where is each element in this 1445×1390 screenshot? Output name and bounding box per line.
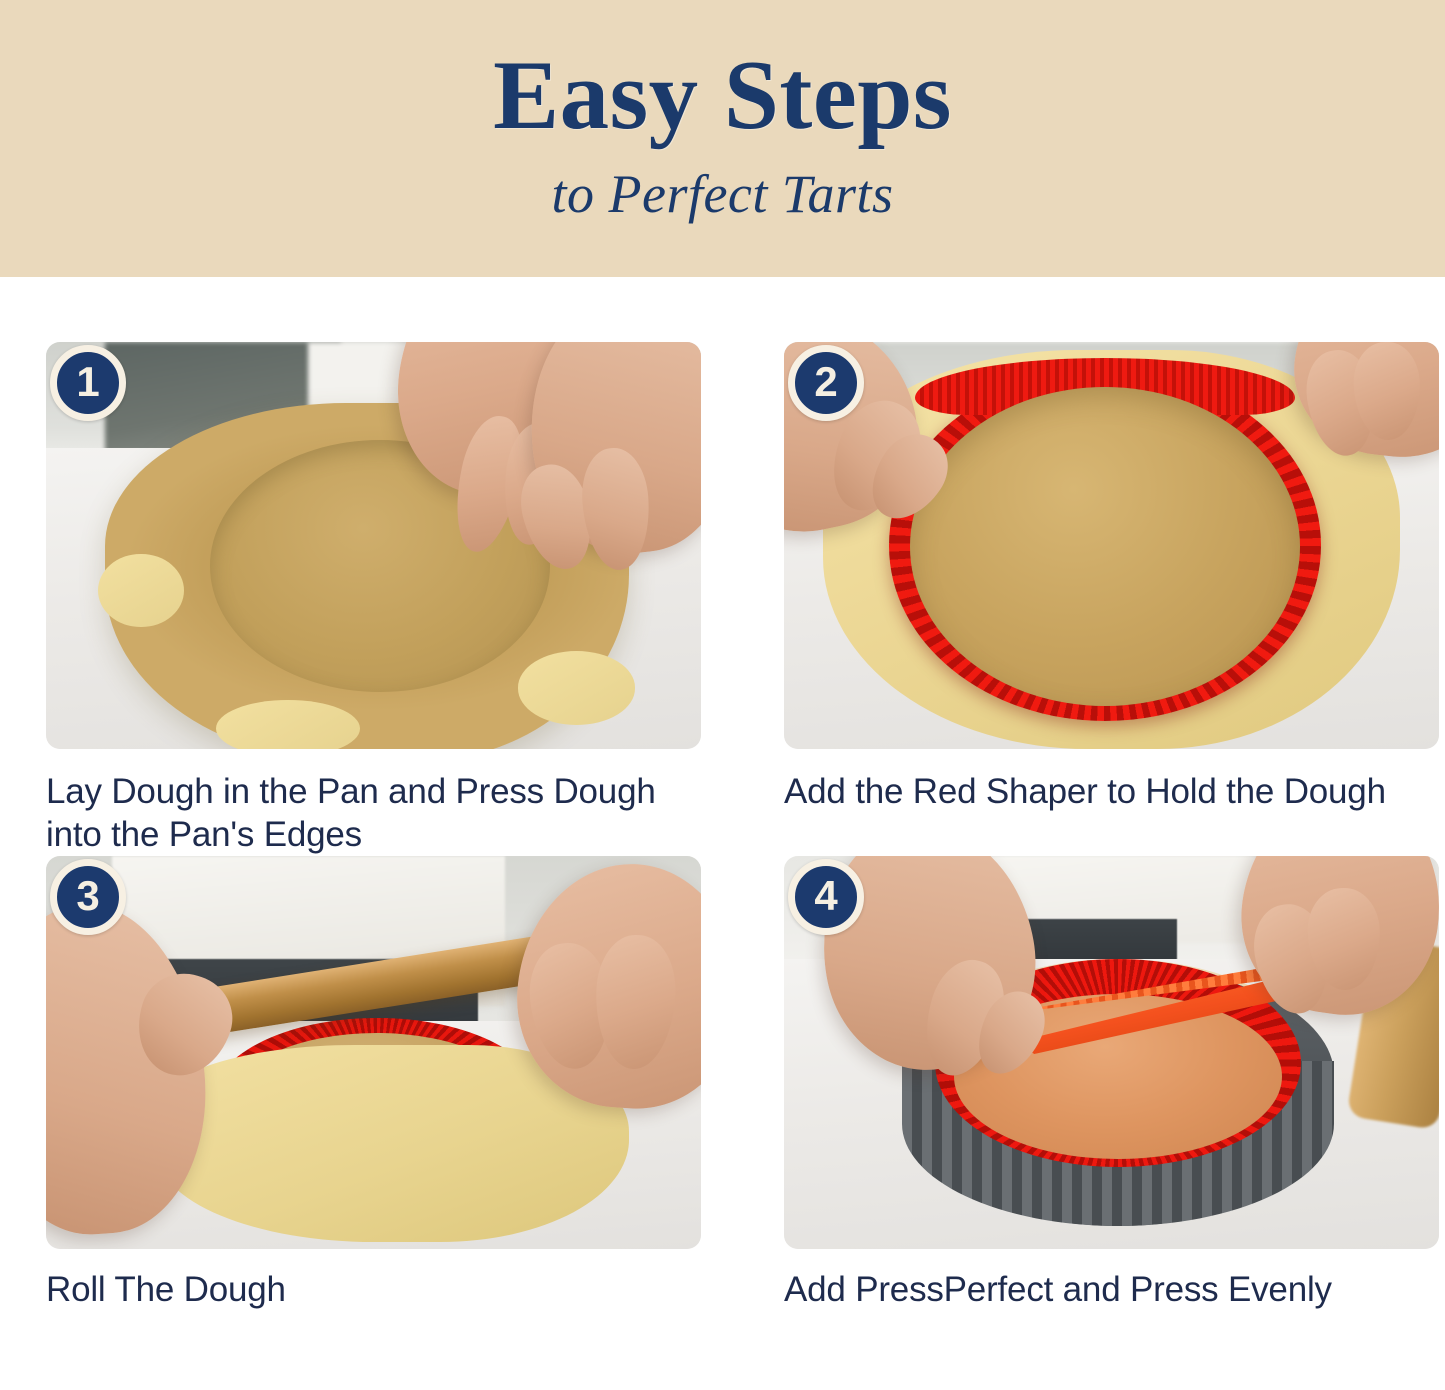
step-card-4: 4 Add PressPerfect and Press Evenly (784, 856, 1439, 1312)
dough-ruffle-bottom (216, 700, 360, 749)
step-badge-2-number: 2 (814, 361, 837, 403)
step-4-caption: Add PressPerfect and Press Evenly (784, 1269, 1434, 1312)
scene-red-shaper (784, 342, 1439, 749)
step-card-2: 2 Add the Red Shaper to Hold the Dough (784, 342, 1439, 856)
scene-rolling-pin (46, 856, 701, 1249)
step-badge-3: 3 (50, 859, 126, 935)
step-badge-1-number: 1 (76, 361, 99, 403)
header-banner: Easy Steps to Perfect Tarts (0, 0, 1445, 277)
page-subtitle: to Perfect Tarts (551, 167, 893, 221)
step-badge-3-number: 3 (76, 875, 99, 917)
step-badge-4-number: 4 (814, 875, 837, 917)
step-card-1: 1 Lay Dough in the Pan and Press Dough i… (46, 342, 701, 856)
step-1-image: 1 (46, 342, 701, 749)
step-4-image: 4 (784, 856, 1439, 1249)
step-2-image: 2 (784, 342, 1439, 749)
step-badge-1: 1 (50, 345, 126, 421)
dough-pan-interior (910, 387, 1300, 706)
dough-ruffle-left (98, 554, 183, 627)
scene-dough-in-pan (46, 342, 701, 749)
step-1-caption: Lay Dough in the Pan and Press Dough int… (46, 771, 696, 856)
scene-pressperfect (784, 856, 1439, 1249)
steps-grid: 1 Lay Dough in the Pan and Press Dough i… (0, 277, 1445, 1312)
step-badge-4: 4 (788, 859, 864, 935)
page-title: Easy Steps (493, 46, 952, 145)
step-3-caption: Roll The Dough (46, 1269, 696, 1312)
step-3-image: 3 (46, 856, 701, 1249)
step-badge-2: 2 (788, 345, 864, 421)
dough-ruffle-right (518, 651, 636, 724)
step-card-3: 3 Roll The Dough (46, 856, 701, 1312)
step-2-caption: Add the Red Shaper to Hold the Dough (784, 771, 1434, 814)
